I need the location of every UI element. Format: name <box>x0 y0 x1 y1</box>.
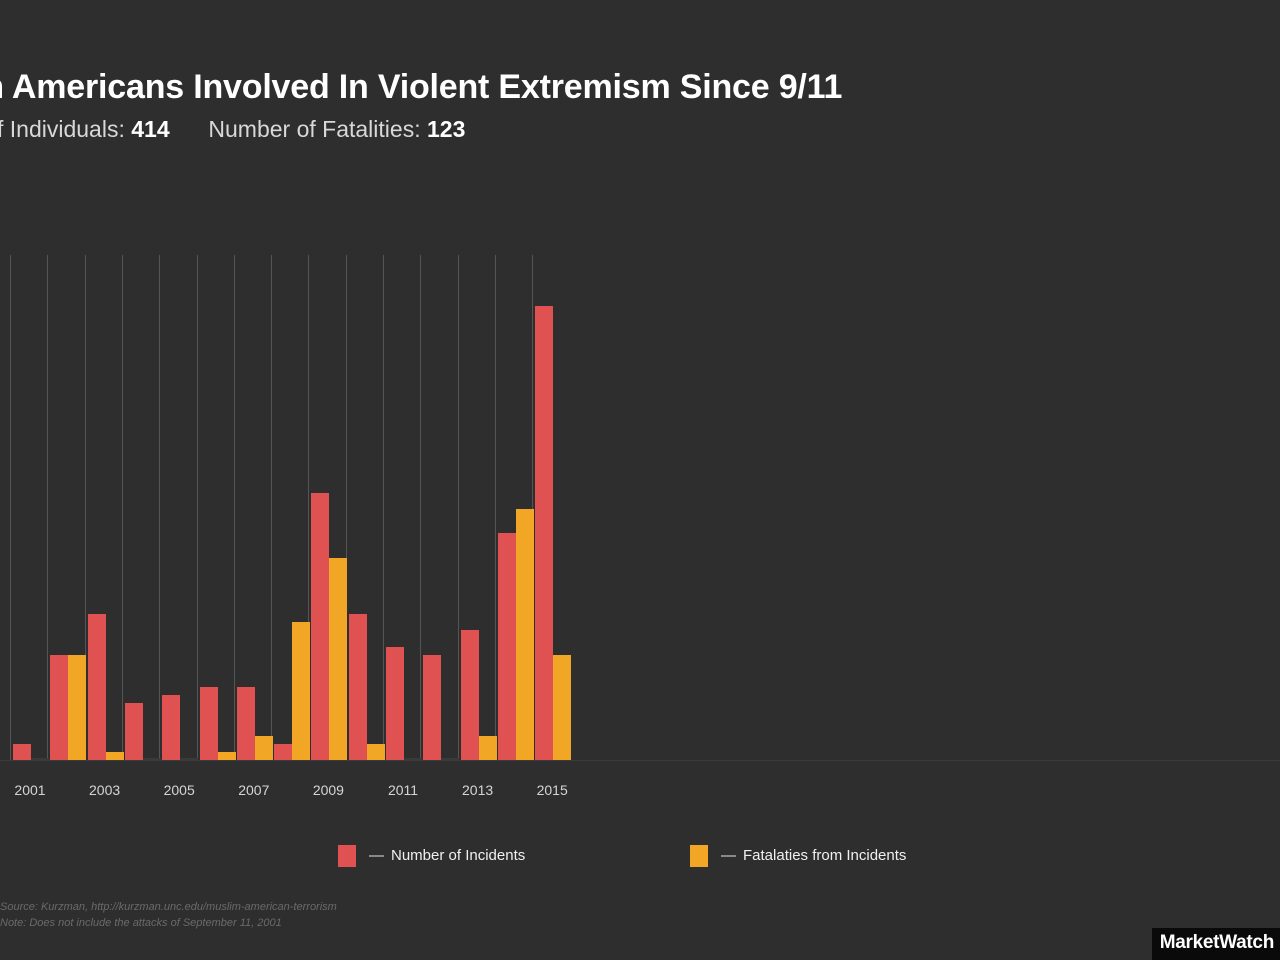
chart-legend: —Number of Incidents—Fatalaties from Inc… <box>0 845 1280 879</box>
bar-group <box>498 255 534 760</box>
x-axis-tick-label: 2007 <box>238 782 269 798</box>
bar-group <box>162 255 198 760</box>
bar-fatalities[interactable] <box>329 558 347 761</box>
bar-group <box>200 255 236 760</box>
bar-incidents[interactable] <box>237 687 255 760</box>
watermark-logo: MarketWatch <box>1152 928 1280 960</box>
x-axis-tick-label: 2013 <box>462 782 493 798</box>
bar-group <box>13 255 49 760</box>
legend-item[interactable]: —Fatalaties from Incidents <box>690 845 906 867</box>
x-axis-tick-label: 2005 <box>164 782 195 798</box>
x-axis-tick-label: 2011 <box>388 782 418 798</box>
bar-incidents[interactable] <box>13 744 31 760</box>
page-title: Muslim Americans Involved In Violent Ext… <box>0 68 842 107</box>
x-axis-tick-label: 2003 <box>89 782 120 798</box>
bar-group <box>535 255 571 760</box>
bar-incidents[interactable] <box>274 744 292 760</box>
bar-group <box>461 255 497 760</box>
x-axis-tick-label: 2001 <box>14 782 45 798</box>
bar-group <box>311 255 347 760</box>
bar-incidents[interactable] <box>535 306 553 760</box>
footnote-line: Note: Does not include the attacks of Se… <box>0 915 600 931</box>
bar-fatalities[interactable] <box>292 622 310 760</box>
bar-fatalities[interactable] <box>516 509 534 760</box>
footnote-line: Source: Kurzman, http://kurzman.unc.edu/… <box>0 899 600 915</box>
bar-incidents[interactable] <box>88 614 106 760</box>
x-axis-tick-label: 2015 <box>537 782 568 798</box>
legend-swatch-icon <box>690 845 708 867</box>
bar-incidents[interactable] <box>386 647 404 760</box>
legend-item-label: Fatalaties from Incidents <box>743 845 906 867</box>
legend-dash-icon: — <box>721 845 736 867</box>
bar-group <box>423 255 459 760</box>
bar-group <box>386 255 422 760</box>
bar-group <box>50 255 86 760</box>
bar-incidents[interactable] <box>423 655 441 760</box>
bar-fatalities[interactable] <box>68 655 86 760</box>
bar-fatalities[interactable] <box>553 655 571 760</box>
fatalities-value: 123 <box>427 116 465 142</box>
bar-group <box>349 255 385 760</box>
legend-item[interactable]: —Number of Incidents <box>338 845 525 867</box>
legend-swatch-icon <box>338 845 356 867</box>
footnotes: Source: Kurzman, http://kurzman.unc.edu/… <box>0 899 600 931</box>
plot-area <box>0 255 1280 760</box>
bar-incidents[interactable] <box>50 655 68 760</box>
axis-baseline <box>0 760 1280 761</box>
watermark-text: MarketWatch <box>1160 932 1274 954</box>
gridline <box>10 255 11 760</box>
bar-incidents[interactable] <box>311 493 329 760</box>
bar-group <box>88 255 124 760</box>
bar-fatalities[interactable] <box>479 736 497 760</box>
legend-item-label: Number of Incidents <box>391 845 525 867</box>
bar-incidents[interactable] <box>461 630 479 760</box>
individuals-label: Number of Individuals: <box>0 116 125 142</box>
bar-group <box>237 255 273 760</box>
summary-stats: Number of Individuals: 414 Number of Fat… <box>0 116 465 143</box>
bar-fatalities[interactable] <box>218 752 236 760</box>
bar-group <box>274 255 310 760</box>
bar-incidents[interactable] <box>200 687 218 760</box>
bar-incidents[interactable] <box>498 533 516 760</box>
bar-incidents[interactable] <box>162 695 180 760</box>
bar-group <box>125 255 161 760</box>
individuals-value: 414 <box>131 116 169 142</box>
x-axis: 20012003200520072009201120132015 <box>0 782 1280 806</box>
bar-fatalities[interactable] <box>106 752 124 760</box>
chart-canvas: Muslim Americans Involved In Violent Ext… <box>0 0 1280 960</box>
bar-fatalities[interactable] <box>255 736 273 760</box>
bar-fatalities[interactable] <box>367 744 385 760</box>
fatalities-label: Number of Fatalities: <box>208 116 420 142</box>
bar-incidents[interactable] <box>125 703 143 760</box>
chart-header: Muslim Americans Involved In Violent Ext… <box>0 0 1280 215</box>
bar-incidents[interactable] <box>349 614 367 760</box>
legend-dash-icon: — <box>369 845 384 867</box>
x-axis-tick-label: 2009 <box>313 782 344 798</box>
